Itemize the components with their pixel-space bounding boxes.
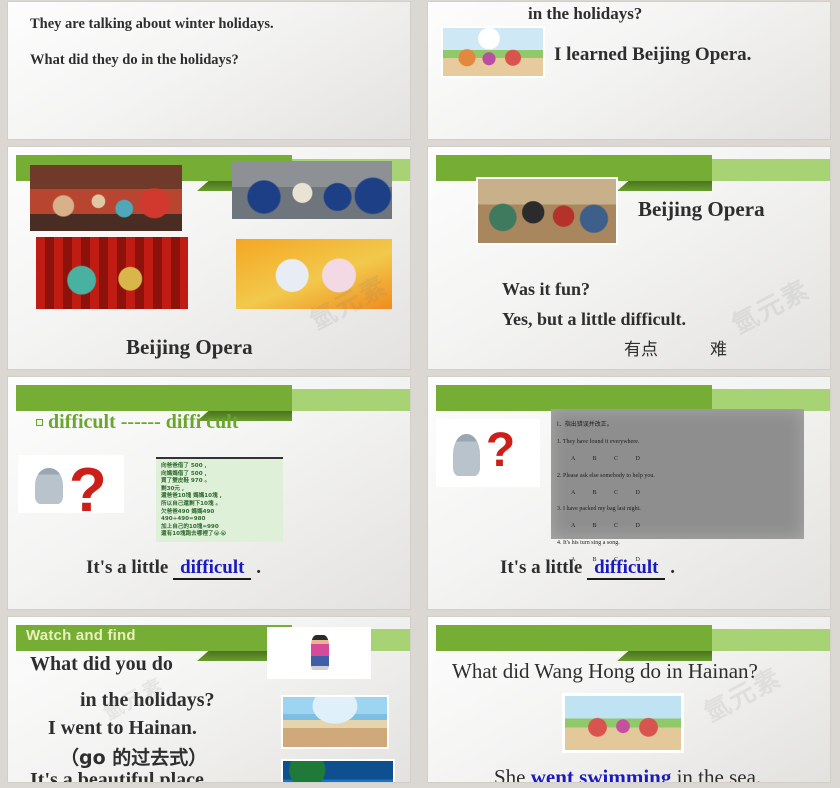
thinking-figure-icon (453, 434, 480, 476)
worksheet-title: Ⅰ．指出错误并改正。 (557, 421, 798, 429)
watermark: 氫元素 (724, 269, 816, 341)
question-mark-icon: ? (69, 460, 107, 513)
slide-3[interactable]: Beijing Opera 氫元素 (0, 145, 420, 375)
slide-5-sentence-before: It's a little (86, 557, 168, 578)
slide-4-answer: Yes, but a little difficult. (502, 309, 686, 330)
opera-group-photo (476, 177, 618, 245)
slide-8-answer-before: She (494, 765, 531, 782)
slide-8-answer-highlight: went swimming (531, 765, 672, 782)
worksheet-labels-1: A B C D (557, 455, 798, 463)
slide-4-question: Was it fun? (502, 279, 590, 300)
slide-grid: They are talking about winter holidays. … (0, 0, 840, 788)
slide-7-line-5: It's a beautiful place (30, 769, 204, 782)
chinese-riddle-box: 向爸爸借了 500 , 向媽媽借了 500 , 買了雙皮鞋 970 。 剩30元… (156, 457, 283, 542)
banner-main-bar (436, 625, 712, 651)
slide-5-word-split: difficult ------ diffi cult (48, 411, 239, 433)
banner-fold-shadow (617, 181, 712, 191)
worksheet-item-3: 3. I have packed my bag last night. (557, 505, 798, 513)
slide-6[interactable]: ? Ⅰ．指出错误并改正。 1. They have found it every… (420, 375, 840, 615)
slide-8-banner (428, 625, 830, 651)
worksheet-item-4: 4. It's his turn sing a song. (557, 539, 798, 547)
grammar-worksheet-scan: Ⅰ．指出错误并改正。 1. They have found it everywh… (551, 409, 804, 539)
slide-7-line-1: What did you do (30, 653, 173, 676)
slide-8-question: What did Wang Hong do in Hainan? (452, 659, 758, 684)
slide-4-cn-right: 难 (710, 335, 727, 360)
slide-5-canvas: difficult ------ diffi cult ? 向爸爸借了 500 … (8, 377, 410, 609)
slide-3-caption: Beijing Opera (126, 335, 253, 360)
opera-cartoon-dolls-photo (236, 239, 392, 309)
slide-2[interactable]: in the holidays? I learned Beijing Opera… (420, 0, 840, 145)
slide-2-canvas: in the holidays? I learned Beijing Opera… (428, 2, 830, 139)
opera-red-curtain-photo (36, 237, 188, 309)
opera-stage-photo (30, 165, 182, 231)
girl-figure-icon (311, 635, 329, 671)
slide-5[interactable]: difficult ------ diffi cult ? 向爸爸借了 500 … (0, 375, 420, 615)
thinking-figure-icon (35, 468, 63, 504)
slide-7-line-3: I went to Hainan. (48, 717, 197, 740)
slide-5-word-split-row: difficult ------ diffi cult (36, 411, 239, 434)
slide-6-answer-blank: difficult (587, 557, 665, 580)
slide-7-line-2: in the holidays? (80, 689, 214, 712)
slide-6-sentence-before: It's a little (500, 557, 582, 578)
slide-8-canvas: What did Wang Hong do in Hainan? She wen… (428, 617, 830, 782)
slide-4[interactable]: Beijing Opera Was it fun? Yes, but a lit… (420, 145, 840, 375)
slide-7-line-4: （go 的过去式） (60, 743, 207, 770)
slide-1[interactable]: They are talking about winter holidays. … (0, 0, 420, 145)
slide-2-question-tail: in the holidays? (528, 4, 642, 24)
slide-5-answer-blank: difficult (173, 557, 251, 580)
slide-7-title: Watch and find (26, 627, 136, 644)
question-mark-icon: ? (486, 427, 515, 475)
slide-2-answer: I learned Beijing Opera. (554, 44, 751, 66)
opera-warriors-photo (232, 161, 392, 219)
slide-5-sentence-after: . (256, 557, 261, 578)
slide-6-sentence-after: . (670, 557, 675, 578)
slide-8-answer: She went swimming in the sea. (494, 765, 761, 782)
slide-8-answer-after: in the sea. (671, 765, 761, 782)
slide-1-line-1: They are talking about winter holidays. (30, 16, 274, 33)
worksheet-labels-3: A B C D (557, 522, 798, 530)
slide-5-banner (8, 385, 410, 411)
girl-walking-clipart (267, 627, 371, 679)
beach-palm-photo (281, 759, 395, 782)
kids-by-sea-clipart (562, 693, 684, 753)
slide-4-canvas: Beijing Opera Was it fun? Yes, but a lit… (428, 147, 830, 369)
slide-6-sentence: It's a little difficult . (500, 557, 675, 579)
slide-7[interactable]: Watch and find What did you do in the ho… (0, 615, 420, 788)
slide-8[interactable]: What did Wang Hong do in Hainan? She wen… (420, 615, 840, 788)
slide-5-sentence: It's a little difficult . (86, 557, 261, 579)
slide-7-canvas: Watch and find What did you do in the ho… (8, 617, 410, 782)
slide-6-banner (428, 385, 830, 411)
kids-thinking-opera-image (441, 26, 545, 78)
slide-1-canvas: They are talking about winter holidays. … (8, 2, 410, 139)
banner-main-bar (436, 385, 712, 411)
slide-3-canvas: Beijing Opera 氫元素 (8, 147, 410, 369)
slide-6-canvas: ? Ⅰ．指出错误并改正。 1. They have found it every… (428, 377, 830, 609)
worksheet-item-1: 1. They have found it everywhere. (557, 438, 798, 446)
checkbox-bullet-icon (36, 419, 43, 426)
worksheet-item-2: 2. Please ask else somebody to help you. (557, 472, 798, 480)
banner-main-bar (16, 385, 292, 411)
slide-4-cn-left: 有点 (624, 335, 658, 360)
slide-4-heading: Beijing Opera (638, 197, 765, 222)
kids-by-sea-clipart (281, 695, 389, 749)
slide-1-line-2: What did they do in the holidays? (30, 52, 239, 69)
question-mark-image: ? (436, 419, 540, 487)
question-mark-image: ? (18, 455, 124, 513)
worksheet-labels-2: A B C D (557, 489, 798, 497)
